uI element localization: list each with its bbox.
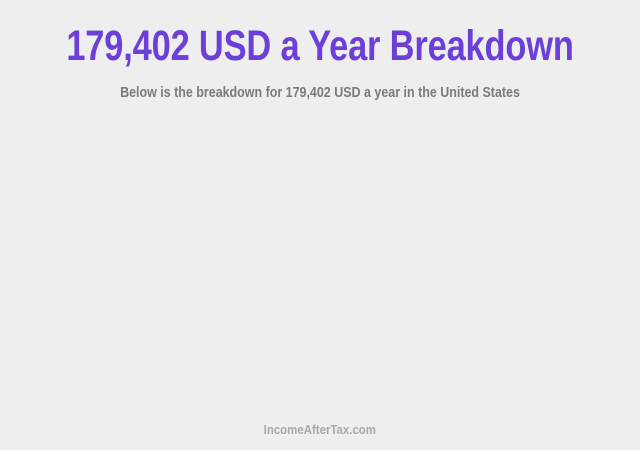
page-title: 179,402 USD a Year Breakdown <box>64 23 576 69</box>
page-subtitle: Below is the breakdown for 179,402 USD a… <box>45 84 595 102</box>
page-root: 179,402 USD a Year Breakdown Below is th… <box>0 0 640 450</box>
content-area <box>0 118 640 410</box>
site-footer: IncomeAfterTax.com <box>0 421 640 439</box>
footer-brand-label: IncomeAfterTax.com <box>264 422 376 438</box>
